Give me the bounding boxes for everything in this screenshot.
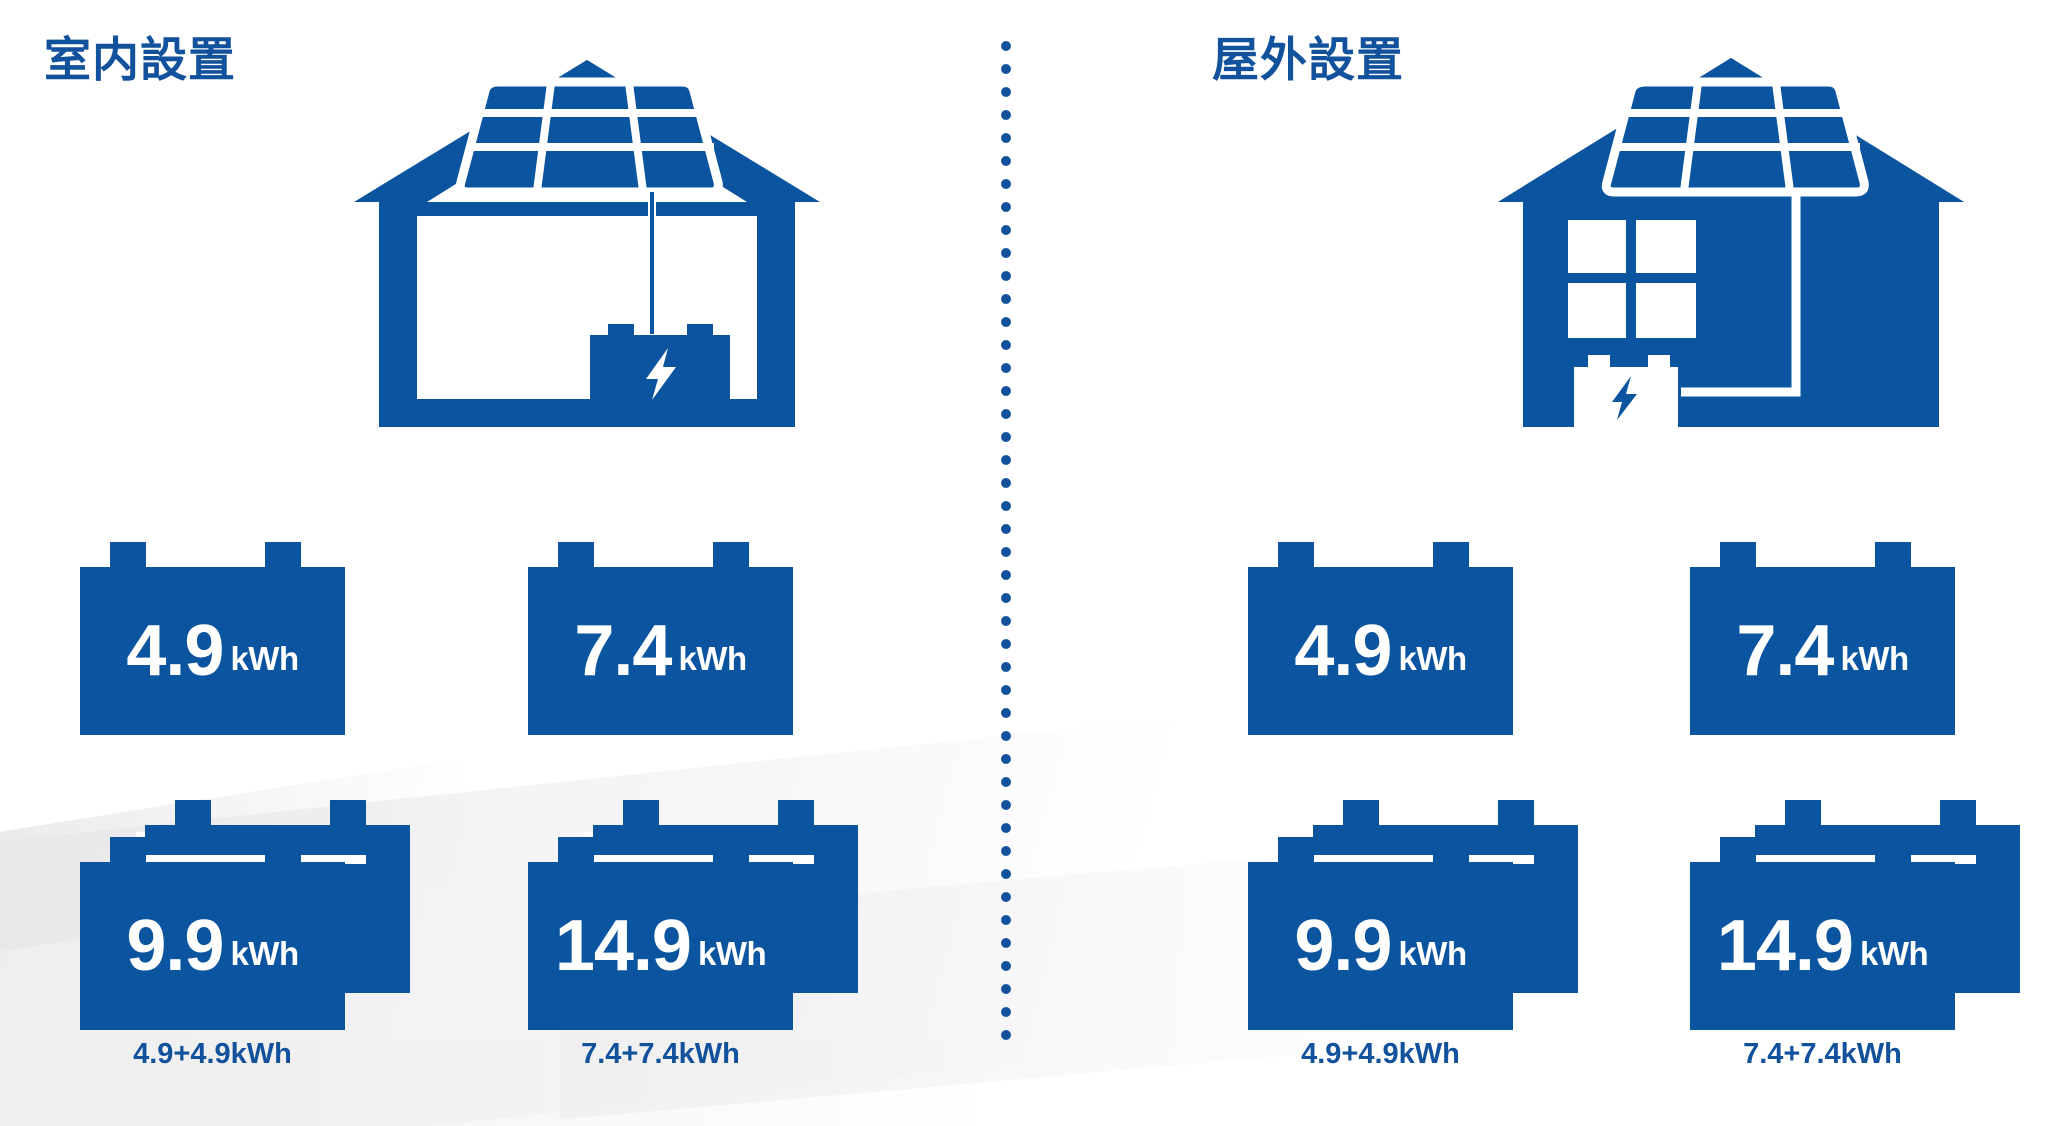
vertical-dotted-divider: [1000, 40, 1012, 1048]
battery-terminal-left: [1278, 542, 1314, 570]
battery-value: 14.9: [1717, 910, 1853, 982]
panel-title-outdoor: 屋外設置: [1212, 36, 1404, 83]
battery-unit: kWh: [230, 937, 298, 970]
battery-stacked-icon: 14.9 kWh: [528, 800, 858, 1030]
house-outdoor-illustration: [1496, 42, 1966, 442]
battery-value-label: 14.9 kWh: [1690, 862, 1955, 1030]
battery-caption: 7.4+7.4kWh: [1690, 1040, 1955, 1069]
panel-title-indoor: 室内設置: [44, 36, 236, 83]
battery-caption: 4.9+4.9kWh: [1248, 1040, 1513, 1069]
battery-front-terminal-right: [1875, 837, 1911, 865]
battery-value-label: 7.4 kWh: [528, 567, 793, 735]
battery-value: 4.9: [1294, 615, 1391, 687]
battery-front-terminal-left: [1720, 837, 1756, 865]
battery-front-terminal-left: [110, 837, 146, 865]
battery-front-terminal-left: [558, 837, 594, 865]
battery-value: 7.4: [574, 615, 671, 687]
battery-terminal-left: [1720, 542, 1756, 570]
battery-value-label: 7.4 kWh: [1690, 567, 1955, 735]
battery-front-terminal-left: [1278, 837, 1314, 865]
battery-terminal-left: [558, 542, 594, 570]
battery-value: 9.9: [126, 910, 223, 982]
battery-terminal-right: [1433, 542, 1469, 570]
battery-front-terminal-right: [713, 837, 749, 865]
battery-stacked-icon: 9.9 kWh: [1248, 800, 1578, 1030]
battery-unit: kWh: [1398, 937, 1466, 970]
battery-back-terminal-right: [778, 800, 814, 828]
battery-front-terminal-right: [1433, 837, 1469, 865]
battery-front-terminal-right: [265, 837, 301, 865]
battery-stacked-icon: 14.9 kWh: [1690, 800, 2020, 1030]
battery-unit: kWh: [698, 937, 766, 970]
battery-single-icon: 4.9 kWh: [1248, 542, 1513, 735]
battery-terminal-right: [713, 542, 749, 570]
solar-panel-icon: [460, 82, 718, 192]
battery-back-terminal-right: [330, 800, 366, 828]
battery-value: 7.4: [1736, 615, 1833, 687]
battery-value-label: 4.9 kWh: [80, 567, 345, 735]
battery-unit: kWh: [1860, 937, 1928, 970]
battery-card-outdoor-4-9[interactable]: 4.9 kWh: [1248, 542, 1513, 735]
house-indoor-svg: [352, 42, 822, 442]
battery-single-icon: 7.4 kWh: [1690, 542, 1955, 735]
infographic-canvas: 室内設置 屋外設置: [0, 0, 2060, 1126]
solar-panel-icon: [1606, 82, 1864, 192]
battery-indoor-icon: [590, 324, 730, 407]
battery-back-terminal-left: [623, 800, 659, 828]
house-indoor-illustration: [352, 42, 822, 442]
battery-single-icon: 4.9 kWh: [80, 542, 345, 735]
battery-unit: kWh: [230, 642, 298, 675]
battery-card-indoor-14-9[interactable]: 14.9 kWh 7.4+7.4kWh: [528, 800, 858, 1030]
battery-card-outdoor-14-9[interactable]: 14.9 kWh 7.4+7.4kWh: [1690, 800, 2020, 1030]
battery-back-terminal-left: [1785, 800, 1821, 828]
battery-single-icon: 7.4 kWh: [528, 542, 793, 735]
battery-value: 14.9: [555, 910, 691, 982]
battery-card-indoor-7-4[interactable]: 7.4 kWh: [528, 542, 793, 735]
battery-value: 9.9: [1294, 910, 1391, 982]
battery-value-label: 9.9 kWh: [1248, 862, 1513, 1030]
battery-terminal-right: [1875, 542, 1911, 570]
battery-back-terminal-left: [1343, 800, 1379, 828]
battery-value-label: 14.9 kWh: [528, 862, 793, 1030]
battery-caption: 4.9+4.9kWh: [80, 1040, 345, 1069]
battery-card-outdoor-7-4[interactable]: 7.4 kWh: [1690, 542, 1955, 735]
battery-card-outdoor-9-9[interactable]: 9.9 kWh 4.9+4.9kWh: [1248, 800, 1578, 1030]
battery-value-label: 4.9 kWh: [1248, 567, 1513, 735]
battery-terminal-right: [265, 542, 301, 570]
battery-back-terminal-left: [175, 800, 211, 828]
battery-unit: kWh: [1398, 642, 1466, 675]
battery-unit: kWh: [1840, 642, 1908, 675]
window-icon: [1568, 220, 1696, 338]
battery-value: 4.9: [126, 615, 223, 687]
battery-card-indoor-4-9[interactable]: 4.9 kWh: [80, 542, 345, 735]
battery-card-indoor-9-9[interactable]: 9.9 kWh 4.9+4.9kWh: [80, 800, 410, 1030]
battery-back-terminal-right: [1498, 800, 1534, 828]
battery-back-terminal-right: [1940, 800, 1976, 828]
battery-stacked-icon: 9.9 kWh: [80, 800, 410, 1030]
house-outdoor-svg: [1496, 42, 1966, 442]
battery-unit: kWh: [678, 642, 746, 675]
battery-terminal-left: [110, 542, 146, 570]
battery-caption: 7.4+7.4kWh: [528, 1040, 793, 1069]
battery-value-label: 9.9 kWh: [80, 862, 345, 1030]
